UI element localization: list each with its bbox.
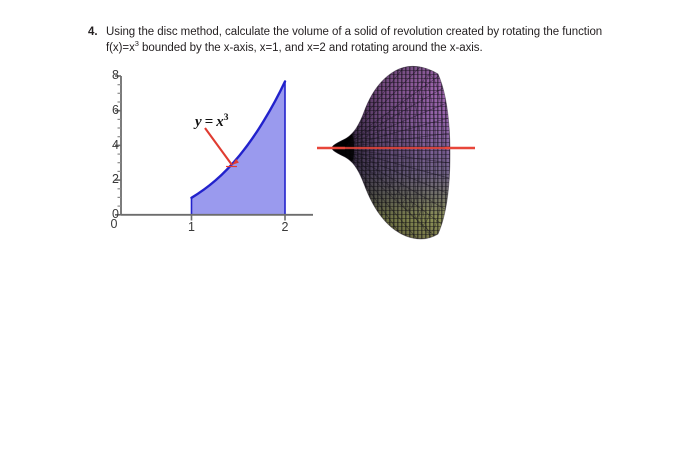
x-tick-label-0: 0 <box>107 217 121 231</box>
solid-svg <box>317 62 477 247</box>
y-tick-label-8: 8 <box>105 68 119 82</box>
x-tick-label-1: 1 <box>185 220 199 234</box>
curve-equation-label: y = x3 <box>195 114 228 131</box>
question-text: Using the disc method, calculate the vol… <box>106 24 608 56</box>
question-line-2-part-b: bounded by the x-axis, x=1, and x=2 and … <box>139 42 483 54</box>
solid-of-revolution <box>317 62 477 247</box>
curve-equation-exponent: 3 <box>224 113 229 123</box>
question-line-1: Using the disc method, calculate the vol… <box>106 26 559 38</box>
y-tick-label-2: 2 <box>105 172 119 186</box>
curve-equation-base: y = x <box>195 114 224 130</box>
question-number: 4. <box>88 24 106 40</box>
x-tick-label-2: 2 <box>278 220 292 234</box>
question-block: 4. Using the disc method, calculate the … <box>88 24 608 56</box>
solid-body <box>317 62 477 247</box>
shaded-region <box>192 82 286 215</box>
plot-area: 0 2 4 6 8 0 1 2 y = x3 <box>95 62 325 247</box>
figure: 0 2 4 6 8 0 1 2 y = x3 <box>95 62 475 247</box>
y-tick-label-6: 6 <box>105 103 119 117</box>
y-tick-label-4: 4 <box>105 138 119 152</box>
